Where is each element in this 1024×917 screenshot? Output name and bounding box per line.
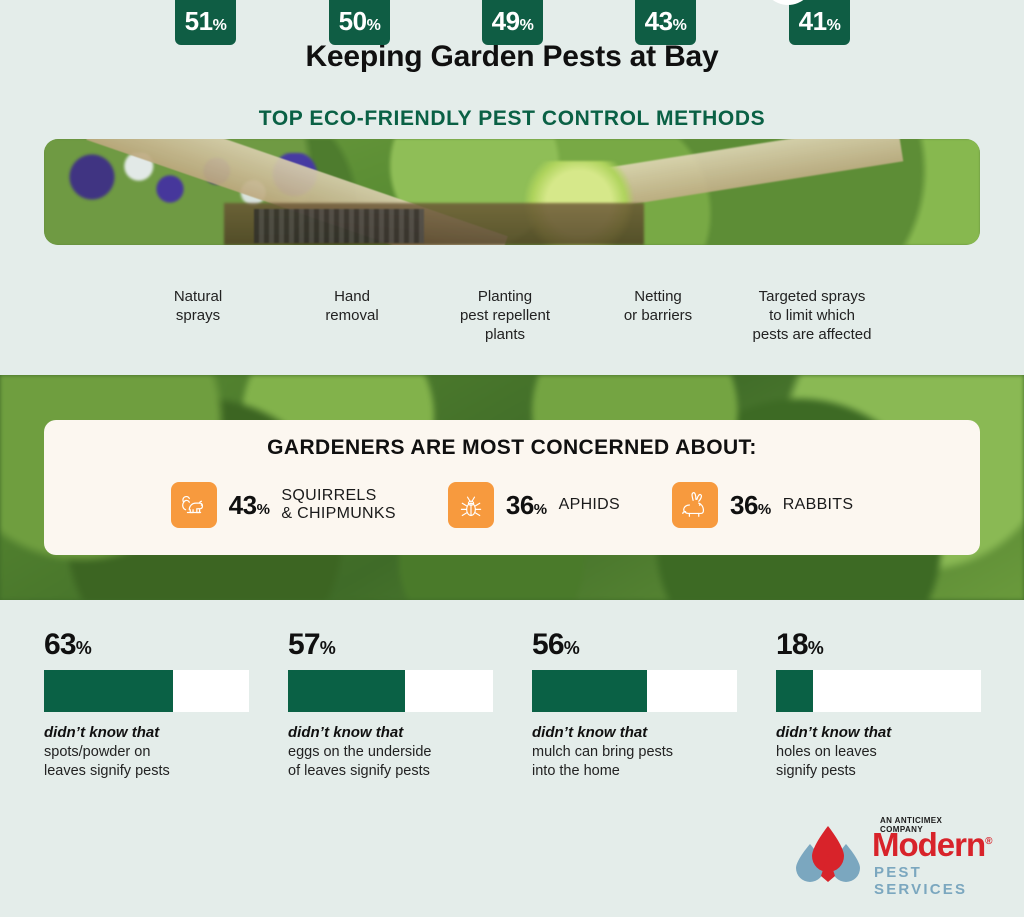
concern-value: 43%: [229, 490, 270, 521]
rank-label: Targeted spraysto limit whichpests are a…: [722, 288, 902, 344]
progress-track: [44, 670, 249, 712]
didnt-know-lead: didn’t know that: [288, 724, 493, 741]
logo-subtitle: PEST SERVICES: [874, 864, 986, 898]
logo-wordmark-text: Modern: [872, 826, 985, 863]
page-title: Keeping Garden Pests at Bay: [0, 40, 1024, 74]
progress-track: [532, 670, 737, 712]
progress-fill: [532, 670, 647, 712]
didnt-know-value: 56%: [532, 630, 737, 660]
didnt-know-lead: didn’t know that: [44, 724, 249, 741]
progress-track: [776, 670, 981, 712]
concerns-title: GARDENERS ARE MOST CONCERNED ABOUT:: [44, 436, 980, 460]
rank-bar: 41%: [789, 0, 850, 45]
registered-mark: ®: [985, 836, 991, 847]
section-subtitle: TOP ECO-FRIENDLY PEST CONTROL METHODS: [0, 107, 1024, 131]
didnt-know-item: 18%didn’t know thatholes on leavessignif…: [776, 630, 981, 781]
rank-bar-value: 41%: [789, 6, 850, 37]
top-methods-chart: 51%#1Naturalsprays50%#2Handremoval49%#3P…: [0, 139, 1024, 374]
didnt-know-lead: didn’t know that: [776, 724, 981, 741]
concern-label: APHIDS: [559, 496, 620, 514]
concern-item: 36%RABBITS: [672, 482, 853, 528]
concern-label: SQUIRRELS & CHIPMUNKS: [281, 487, 395, 524]
didnt-know-value: 18%: [776, 630, 981, 660]
concern-item: 36%APHIDS: [448, 482, 620, 528]
didnt-know-value: 57%: [288, 630, 493, 660]
progress-fill: [776, 670, 813, 712]
rank-bar: 50%: [329, 0, 390, 45]
didnt-know-description: spots/powder onleaves signify pests: [44, 743, 249, 781]
didnt-know-item: 63%didn’t know thatspots/powder onleaves…: [44, 630, 249, 781]
progress-fill: [44, 670, 173, 712]
concern-value: 36%: [506, 490, 547, 521]
droplet-logo-icon: [790, 824, 866, 882]
didnt-know-description: holes on leavessignify pests: [776, 743, 981, 781]
rank-bar-value: 50%: [329, 6, 390, 37]
didnt-know-item: 57%didn’t know thateggs on the underside…: [288, 630, 493, 781]
rank-bar-value: 43%: [635, 6, 696, 37]
didnt-know-lead: didn’t know that: [532, 724, 737, 741]
progress-fill: [288, 670, 405, 712]
progress-track: [288, 670, 493, 712]
rank-bar-value: 51%: [175, 6, 236, 37]
didnt-know-description: mulch can bring pestsinto the home: [532, 743, 737, 781]
concerns-card: GARDENERS ARE MOST CONCERNED ABOUT: 43%S…: [44, 420, 980, 555]
squirrel-icon: [171, 482, 217, 528]
didnt-know-section: 63%didn’t know thatspots/powder onleaves…: [0, 600, 1024, 820]
rank-bar: 43%: [635, 0, 696, 45]
aphid-icon: [448, 482, 494, 528]
rank-bar-value: 49%: [482, 6, 543, 37]
logo-wordmark: Modern®: [872, 828, 992, 861]
concerns-section: GARDENERS ARE MOST CONCERNED ABOUT: 43%S…: [0, 375, 1024, 600]
rank-bar: 49%: [482, 0, 543, 45]
concern-label: RABBITS: [783, 496, 854, 514]
rank-label: Naturalsprays: [108, 288, 288, 326]
brand-logo[interactable]: AN ANTICIMEX COMPANY Modern® PEST SERVIC…: [790, 816, 986, 888]
rank-label: Nettingor barriers: [568, 288, 748, 326]
concern-value: 36%: [730, 490, 771, 521]
didnt-know-description: eggs on the undersideof leaves signify p…: [288, 743, 493, 781]
didnt-know-item: 56%didn’t know thatmulch can bring pests…: [532, 630, 737, 781]
didnt-know-value: 63%: [44, 630, 249, 660]
concern-item: 43%SQUIRRELS & CHIPMUNKS: [171, 482, 396, 528]
rabbit-icon: [672, 482, 718, 528]
rank-bar: 51%: [175, 0, 236, 45]
